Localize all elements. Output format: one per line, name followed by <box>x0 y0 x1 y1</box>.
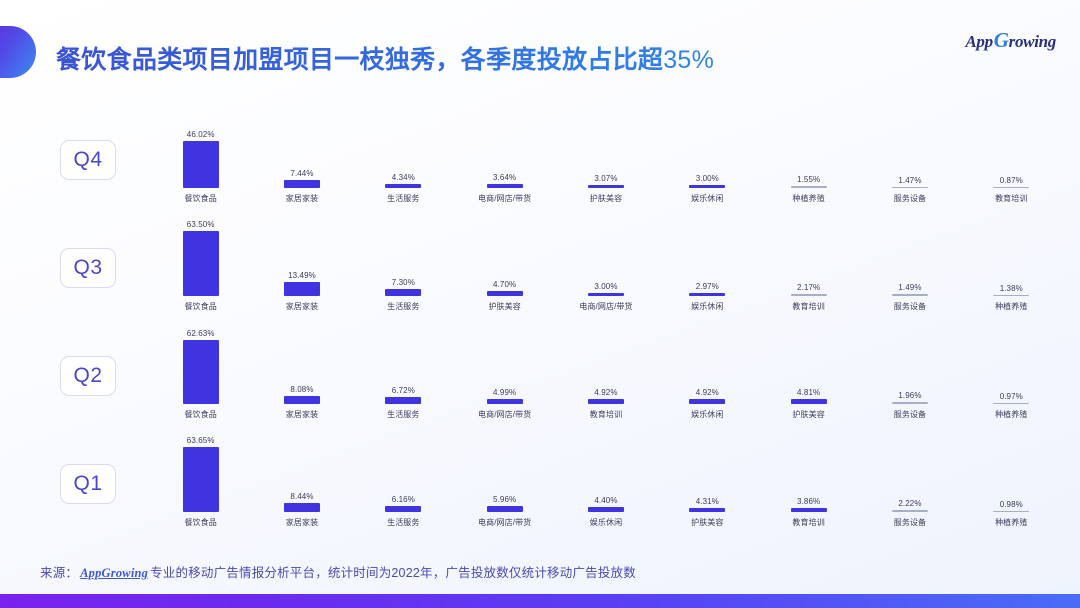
bar-item[interactable]: 0.87%教育培训 <box>961 96 1062 204</box>
bar-category-label: 家居家装 <box>286 409 318 420</box>
bar-item[interactable]: 3.86%教育培训 <box>758 420 859 528</box>
bar-group: 63.50%餐饮食品13.49%家居家装7.30%生活服务4.70%护肤美容3.… <box>150 204 1062 312</box>
bar-category-label: 服务设备 <box>894 301 926 312</box>
bar-group: 62.63%餐饮食品8.08%家居家装6.72%生活服务4.99%电商/网店/带… <box>150 312 1062 420</box>
bar-rect <box>487 184 523 188</box>
logo-g-icon: G <box>994 28 1009 53</box>
appgrowing-logo: AppGrowing <box>965 28 1056 53</box>
bar-rect <box>284 396 320 404</box>
bar-rect <box>993 403 1029 405</box>
bar-value-label: 8.44% <box>290 492 313 501</box>
bar-item[interactable]: 4.92%教育培训 <box>555 312 656 420</box>
bar-item[interactable]: 4.31%护肤美容 <box>657 420 758 528</box>
bar-category-label: 教育培训 <box>590 409 622 420</box>
bar-item[interactable]: 4.99%电商/网店/带货 <box>454 312 555 420</box>
bar-item[interactable]: 1.49%服务设备 <box>859 204 960 312</box>
bar-value-label: 1.55% <box>797 175 820 184</box>
bar-item[interactable]: 5.96%电商/网店/带货 <box>454 420 555 528</box>
bar-category-label: 生活服务 <box>387 517 419 528</box>
bar-value-label: 4.92% <box>696 388 719 397</box>
bar-category-label: 餐饮食品 <box>184 517 216 528</box>
bar-item[interactable]: 3.07%护肤美容 <box>555 96 656 204</box>
bar-item[interactable]: 3.00%电商/网店/带货 <box>555 204 656 312</box>
bar-rect <box>385 289 421 297</box>
bar-rect <box>892 187 928 189</box>
bar-rect <box>993 187 1029 189</box>
bar-category-label: 电商/网店/带货 <box>478 517 531 528</box>
bar-item[interactable]: 63.50%餐饮食品 <box>150 204 251 312</box>
bar-category-label: 餐饮食品 <box>184 301 216 312</box>
bar-rect <box>588 399 624 404</box>
bar-value-label: 4.81% <box>797 388 820 397</box>
bar-item[interactable]: 1.55%种植养殖 <box>758 96 859 204</box>
bar-category-label: 生活服务 <box>387 409 419 420</box>
page-title-percent: 35% <box>663 46 714 74</box>
quarter-badge-q4[interactable]: Q4 <box>60 140 116 180</box>
bar-item[interactable]: 6.16%生活服务 <box>353 420 454 528</box>
bar-item[interactable]: 4.34%生活服务 <box>353 96 454 204</box>
slide-footer: 来源：AppGrowing专业的移动广告情报分析平台，统计时间为2022年，广告… <box>0 562 1080 586</box>
bar-item[interactable]: 3.64%电商/网店/带货 <box>454 96 555 204</box>
bar-item[interactable]: 4.92%娱乐休闲 <box>657 312 758 420</box>
bar-group: 46.02%餐饮食品7.44%家居家装4.34%生活服务3.64%电商/网店/带… <box>150 96 1062 204</box>
page-title-main: 餐饮食品类项目加盟项目一枝独秀，各季度投放占比超 <box>56 46 663 74</box>
bar-category-label: 电商/网店/带货 <box>478 409 531 420</box>
bar-value-label: 4.70% <box>493 280 516 289</box>
source-rest: 专业的移动广告情报分析平台，统计时间为2022年，广告投放数仅统计移动广告投放数 <box>150 566 636 580</box>
source-note: 来源：AppGrowing专业的移动广告情报分析平台，统计时间为2022年，广告… <box>40 562 636 581</box>
bar-item[interactable]: 7.44%家居家装 <box>251 96 352 204</box>
page-title: 餐饮食品类项目加盟项目一枝独秀，各季度投放占比超35% <box>56 40 714 76</box>
bar-value-label: 4.40% <box>594 496 617 505</box>
bar-value-label: 0.98% <box>1000 500 1023 509</box>
bar-rect <box>487 506 523 512</box>
bar-item[interactable]: 8.44%家居家装 <box>251 420 352 528</box>
bar-value-label: 1.47% <box>898 176 921 185</box>
bar-rect <box>487 291 523 296</box>
bar-rect <box>689 293 725 296</box>
bar-rect <box>284 282 320 296</box>
bar-category-label: 娱乐休闲 <box>590 517 622 528</box>
bar-item[interactable]: 2.17%教育培训 <box>758 204 859 312</box>
bar-value-label: 0.97% <box>1000 392 1023 401</box>
bar-item[interactable]: 2.22%服务设备 <box>859 420 960 528</box>
bar-item[interactable]: 1.47%服务设备 <box>859 96 960 204</box>
bar-value-label: 6.72% <box>392 386 415 395</box>
bar-value-label: 3.00% <box>594 282 617 291</box>
quarter-row: Q262.63%餐饮食品8.08%家居家装6.72%生活服务4.99%电商/网店… <box>0 312 1080 420</box>
quarter-badge-q1[interactable]: Q1 <box>60 464 116 504</box>
bar-rect <box>183 231 219 296</box>
bar-category-label: 家居家装 <box>286 517 318 528</box>
logo-app-text: App <box>965 32 992 52</box>
bar-rect <box>892 294 928 296</box>
bar-category-label: 种植养殖 <box>995 409 1027 420</box>
bar-category-label: 电商/网店/带货 <box>478 193 531 204</box>
bar-category-label: 服务设备 <box>894 193 926 204</box>
bar-category-label: 电商/网店/带货 <box>579 301 632 312</box>
bar-rect <box>588 507 624 512</box>
bar-rect <box>183 141 219 188</box>
bar-rect <box>385 184 421 188</box>
bar-value-label: 4.92% <box>594 388 617 397</box>
bar-rect <box>284 503 320 512</box>
bar-category-label: 种植养殖 <box>792 193 824 204</box>
bar-rect <box>791 294 827 296</box>
bar-item[interactable]: 13.49%家居家装 <box>251 204 352 312</box>
bar-item[interactable]: 8.08%家居家装 <box>251 312 352 420</box>
bar-rect <box>689 185 725 188</box>
bar-category-label: 教育培训 <box>995 193 1027 204</box>
bar-category-label: 生活服务 <box>387 301 419 312</box>
bar-rect <box>689 508 725 512</box>
bar-category-label: 服务设备 <box>894 409 926 420</box>
bar-item[interactable]: 0.97%种植养殖 <box>961 312 1062 420</box>
bar-item[interactable]: 4.81%护肤美容 <box>758 312 859 420</box>
bar-item[interactable]: 62.63%餐饮食品 <box>150 312 251 420</box>
bar-category-label: 娱乐休闲 <box>691 301 723 312</box>
bar-value-label: 1.38% <box>1000 284 1023 293</box>
bar-item[interactable]: 2.97%娱乐休闲 <box>657 204 758 312</box>
bar-rect <box>385 506 421 512</box>
bar-category-label: 护肤美容 <box>590 193 622 204</box>
bar-value-label: 3.64% <box>493 173 516 182</box>
bar-value-label: 5.96% <box>493 495 516 504</box>
bar-category-label: 教育培训 <box>792 301 824 312</box>
quarter-rows: Q446.02%餐饮食品7.44%家居家装4.34%生活服务3.64%电商/网店… <box>0 96 1080 528</box>
bar-category-label: 护肤美容 <box>792 409 824 420</box>
bar-category-label: 家居家装 <box>286 301 318 312</box>
bar-item[interactable]: 3.00%娱乐休闲 <box>657 96 758 204</box>
bar-value-label: 62.63% <box>187 329 215 338</box>
source-prefix: 来源： <box>40 566 78 580</box>
bar-rect <box>791 399 827 404</box>
bar-rect <box>588 293 624 296</box>
bar-rect <box>993 511 1029 513</box>
bar-category-label: 种植养殖 <box>995 301 1027 312</box>
bar-value-label: 63.50% <box>187 220 215 229</box>
bar-rect <box>892 402 928 404</box>
bar-value-label: 4.34% <box>392 173 415 182</box>
quarter-row: Q163.65%餐饮食品8.44%家居家装6.16%生活服务5.96%电商/网店… <box>0 420 1080 528</box>
bar-rect <box>689 399 725 404</box>
bar-value-label: 2.22% <box>898 499 921 508</box>
bar-value-label: 3.86% <box>797 497 820 506</box>
bar-group: 63.65%餐饮食品8.44%家居家装6.16%生活服务5.96%电商/网店/带… <box>150 420 1062 528</box>
bar-category-label: 家居家装 <box>286 193 318 204</box>
bar-value-label: 2.17% <box>797 283 820 292</box>
bar-value-label: 7.44% <box>290 169 313 178</box>
bar-value-label: 13.49% <box>288 271 316 280</box>
bar-rect <box>993 295 1029 297</box>
bar-value-label: 4.31% <box>696 497 719 506</box>
bar-rect <box>588 185 624 188</box>
bar-value-label: 46.02% <box>187 130 215 139</box>
bar-value-label: 4.99% <box>493 388 516 397</box>
bar-rect <box>791 508 827 512</box>
bar-category-label: 教育培训 <box>792 517 824 528</box>
bar-category-label: 种植养殖 <box>995 517 1027 528</box>
bar-rect <box>892 510 928 512</box>
bar-item[interactable]: 1.38%种植养殖 <box>961 204 1062 312</box>
slide-canvas: 餐饮食品类项目加盟项目一枝独秀，各季度投放占比超35% AppGrowing Q… <box>0 0 1080 608</box>
quarter-badge-q2[interactable]: Q2 <box>60 356 116 396</box>
quarter-badge-q3[interactable]: Q3 <box>60 248 116 288</box>
bar-rect <box>183 447 219 512</box>
bar-value-label: 7.30% <box>392 278 415 287</box>
bar-category-label: 护肤美容 <box>691 517 723 528</box>
bar-item[interactable]: 63.65%餐饮食品 <box>150 420 251 528</box>
bar-item[interactable]: 7.30%生活服务 <box>353 204 454 312</box>
bar-item[interactable]: 4.40%娱乐休闲 <box>555 420 656 528</box>
bar-value-label: 8.08% <box>290 385 313 394</box>
bar-rect <box>183 340 219 404</box>
slide-header: 餐饮食品类项目加盟项目一枝独秀，各季度投放占比超35% AppGrowing <box>0 0 1080 92</box>
bar-value-label: 3.00% <box>696 174 719 183</box>
bar-item[interactable]: 46.02%餐饮食品 <box>150 96 251 204</box>
bar-rect <box>385 397 421 404</box>
bar-item[interactable]: 0.98%种植养殖 <box>961 420 1062 528</box>
logo-rowing-text: rowing <box>1009 32 1056 52</box>
bar-value-label: 63.65% <box>187 436 215 445</box>
bar-category-label: 餐饮食品 <box>184 193 216 204</box>
bar-rect <box>284 180 320 188</box>
bar-value-label: 1.96% <box>898 391 921 400</box>
bar-category-label: 餐饮食品 <box>184 409 216 420</box>
bar-value-label: 1.49% <box>898 283 921 292</box>
bar-category-label: 服务设备 <box>894 517 926 528</box>
bar-value-label: 6.16% <box>392 495 415 504</box>
bar-item[interactable]: 1.96%服务设备 <box>859 312 960 420</box>
bar-category-label: 护肤美容 <box>488 301 520 312</box>
bar-rect <box>487 399 523 404</box>
bar-category-label: 娱乐休闲 <box>691 409 723 420</box>
bar-category-label: 娱乐休闲 <box>691 193 723 204</box>
bar-value-label: 3.07% <box>594 174 617 183</box>
bar-category-label: 生活服务 <box>387 193 419 204</box>
bottom-accent-bar <box>0 594 1080 608</box>
bar-value-label: 2.97% <box>696 282 719 291</box>
source-brand-link[interactable]: AppGrowing <box>78 566 150 580</box>
bar-item[interactable]: 6.72%生活服务 <box>353 312 454 420</box>
quarter-row: Q446.02%餐饮食品7.44%家居家装4.34%生活服务3.64%电商/网店… <box>0 96 1080 204</box>
bar-value-label: 0.87% <box>1000 176 1023 185</box>
bar-rect <box>791 186 827 188</box>
quarter-row: Q363.50%餐饮食品13.49%家居家装7.30%生活服务4.70%护肤美容… <box>0 204 1080 312</box>
bar-item[interactable]: 4.70%护肤美容 <box>454 204 555 312</box>
